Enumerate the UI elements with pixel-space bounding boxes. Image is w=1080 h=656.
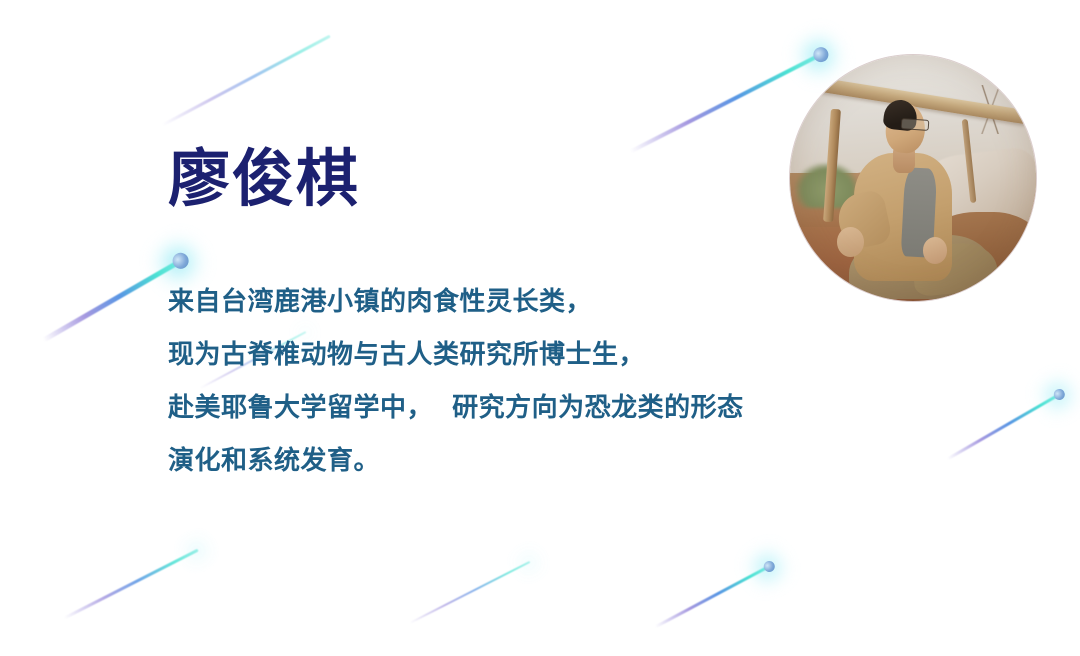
comet-tail	[654, 564, 770, 628]
comet-tail	[64, 549, 199, 620]
comet-glow	[746, 545, 789, 588]
slide-canvas: 廖俊棋 来自台湾鹿港小镇的肉食性灵长类，现为古脊椎动物与古人类研究所博士生，赴美…	[0, 0, 1080, 656]
comet-bottom-mid	[409, 560, 531, 625]
bio-line: 来自台湾鹿港小镇的肉食性灵长类，	[168, 276, 744, 329]
photo-vignette	[790, 55, 1036, 301]
comet-glow	[519, 553, 538, 572]
profile-photo	[790, 55, 1036, 301]
comet-bottom-left	[63, 548, 198, 620]
bio-line: 现为古脊椎动物与古人类研究所博士生，	[168, 329, 744, 382]
comet-tail	[947, 392, 1061, 460]
comet-right-mid	[945, 389, 1063, 464]
bio-line: 赴美耶鲁大学留学中， 研究方向为恐龙类的形态	[168, 382, 744, 435]
page-title: 廖俊棋	[168, 128, 360, 218]
comet-head	[762, 559, 777, 574]
comet-left-mid	[39, 253, 186, 347]
bio-paragraph: 来自台湾鹿港小镇的肉食性灵长类，现为古脊椎动物与古人类研究所博士生，赴美耶鲁大学…	[168, 276, 744, 488]
comet-tail	[162, 35, 331, 127]
comet-glow	[186, 540, 208, 562]
comet-head	[170, 250, 192, 272]
comet-glow	[1037, 375, 1078, 416]
comet-tail	[409, 561, 530, 624]
comet-bottom-right	[653, 561, 773, 632]
comet-head	[1052, 387, 1067, 402]
photo-illustration	[790, 55, 1036, 301]
bio-line: 演化和系统发育。	[168, 435, 744, 488]
comet-tail	[42, 258, 183, 342]
comet-top-left	[161, 34, 331, 127]
